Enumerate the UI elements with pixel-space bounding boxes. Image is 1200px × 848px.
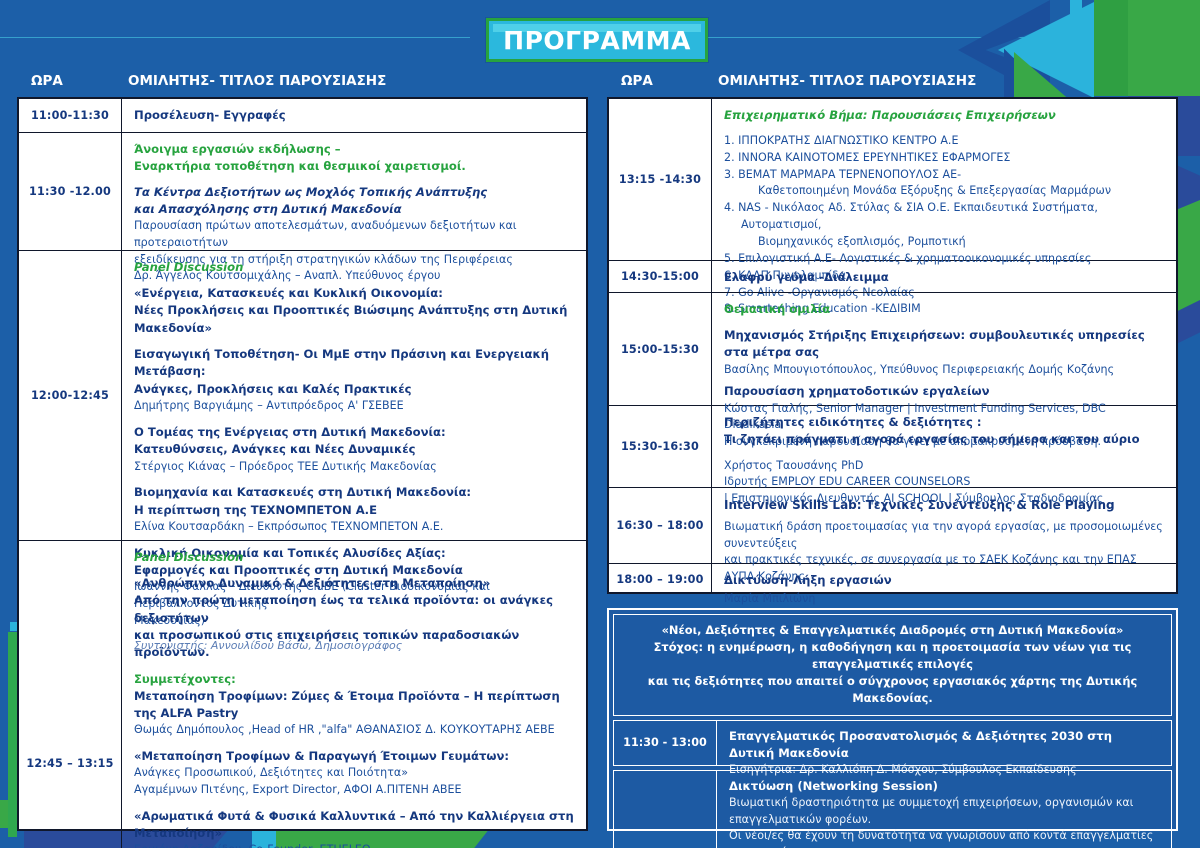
table-row: 14:30-15:00 Ελαφρύ γεύμα -Διάλειμμα <box>609 261 1176 293</box>
list-item: ΒΕΜΑΤ ΜΑΡΜΑΡΑ ΤΕΡΝΕΝΟΠΟΥΛΟΣ ΑΕ-Καθετοποι… <box>724 167 1166 201</box>
youth-banner-line-1: «Νέοι, Δεξιότητες & Επαγγελματικές Διαδρ… <box>624 622 1161 639</box>
row-content: Προσέλευση- Εγγραφές <box>122 99 586 132</box>
section-label: Θεματική ομιλία <box>724 301 1166 318</box>
row-time: 16:30 – 18:00 <box>609 488 712 563</box>
corner-arrow-cyan <box>998 2 1094 98</box>
table-row: 12:45 – 13:15 Panel Discussion «Ανθρώπιν… <box>19 541 586 848</box>
list-item-cont: Καθετοποιημένη Μονάδα Εξόρυξης & Επεξεργ… <box>741 183 1166 200</box>
speaker-name: Βασίλης Μπουγιοτόπουλος, Υπεύθυνος Περιφ… <box>724 362 1166 379</box>
row-time: 12:00-12:45 <box>19 251 122 540</box>
talk-title-2: Ο Τομέας της Ενέργειας στη Δυτική Μακεδο… <box>134 424 576 441</box>
session-desc-1: Παρουσίαση πρώτων αποτελεσμάτων, αναδυόμ… <box>134 218 576 251</box>
participant-title-2b: Ανάγκες Προσωπικού, Δεξιότητες και Ποιότ… <box>134 765 576 782</box>
talk-title-1b: Ανάγκες, Προκλήσεις και Καλές Πρακτικές <box>134 381 576 398</box>
session-title: Δικτύωση (Networking Session) <box>729 778 1161 795</box>
panel-title-2: Από την πρώτη μεταποίηση έως τα τελικά π… <box>134 592 576 627</box>
row-time: 11:30 -12.00 <box>19 133 122 250</box>
participant-speaker-1: Θωμάς Δημόπουλος ,Head of HR ,"alfa" ΑΘΑ… <box>134 722 576 739</box>
session-title-line-2: και Απασχόλησης στη Δυτική Μακεδονία <box>134 201 576 218</box>
talk-title-3: Βιομηχανία και Κατασκευές στη Δυτική Μακ… <box>134 484 576 501</box>
list-item: NAS - Νικόλαος Αδ. Στύλας & ΣΙΑ Ο.Ε. Εκπ… <box>724 200 1166 251</box>
row-time: 13:15 -14:30 <box>609 99 712 260</box>
session-title: Προσέλευση- Εγγραφές <box>134 107 576 124</box>
row-content: Interview Skills Lab: Τεχνικές Συνέντευξ… <box>712 488 1176 563</box>
row-time: 11:00-11:30 <box>19 99 122 132</box>
footer-shape-green <box>0 800 16 828</box>
panel-title-2: Νέες Προκλήσεις και Προοπτικές Βιώσιμης … <box>134 302 576 337</box>
row-time: 13:00 - 14:00 <box>614 771 717 848</box>
page-title-label: ΠΡΟΓΡΑΜΜΑ <box>503 26 691 55</box>
panel-label: Panel Discussion <box>134 549 576 566</box>
talk-title-1: Μηχανισμός Στήριξης Επιχειρήσεων: συμβου… <box>724 327 1166 362</box>
list-item-cont: Βιομηχανικός εξοπλισμός, Ρομποτική <box>741 234 1166 251</box>
panel-label: Panel Discussion <box>134 259 576 276</box>
row-time: 15:30-16:30 <box>609 406 712 487</box>
row-content: Panel Discussion «Ενέργεια, Κατασκευές κ… <box>122 251 586 540</box>
talk-title-2: Παρουσίαση χρηματοδοτικών εργαλείων <box>724 383 1166 400</box>
row-time: 18:00 – 19:00 <box>609 564 712 594</box>
panel-title-3: και προσωπικού στις επιχειρήσεις τοπικών… <box>134 627 576 662</box>
session-title-line-1: Τα Κέντρα Δεξιοτήτων ως Μοχλός Τοπικής Α… <box>134 184 576 201</box>
participant-speaker-2: Αγαμέμνων Πιτένης, Export Director, ΑΦΟΙ… <box>134 782 576 799</box>
left-accent-stripe <box>8 632 17 837</box>
table-row: 15:00-15:30 Θεματική ομιλία Μηχανισμός Σ… <box>609 293 1176 406</box>
header-desc-label: ΟΜΙΛΗΤΗΣ- ΤΙΤΛΟΣ ΠΑΡΟΥΣΙΑΣΗΣ <box>710 73 976 89</box>
column-header-left: ΩΡΑ ΟΜΙΛΗΤΗΣ- ΤΙΤΛΟΣ ΠΑΡΟΥΣΙΑΣΗΣ <box>17 70 386 92</box>
schedule-table-right: 13:15 -14:30 Επιχειρηματικό Βήμα: Παρουσ… <box>607 97 1178 594</box>
table-row: 13:15 -14:30 Επιχειρηματικό Βήμα: Παρουσ… <box>609 99 1176 261</box>
section-label: Επιχειρηματικό Βήμα: Παρουσιάσεις Επιχει… <box>724 107 1166 124</box>
page-title: ΠΡΟΓΡΑΜΜΑ <box>486 18 708 62</box>
opening-line-1: Άνοιγμα εργασιών εκδήλωσης – <box>134 141 576 158</box>
talk-title-1: Εισαγωγική Τοποθέτηση- Οι ΜμΕ στην Πράσι… <box>134 346 576 381</box>
table-row: 18:00 – 19:00 Δικτύωση-Λήξη εργασιών <box>609 564 1176 594</box>
table-row: 11:30 -12.00 Άνοιγμα εργασιών εκδήλωσης … <box>19 133 586 251</box>
table-row: 15:30-16:30 Περιζήτητες ειδικότητες & δε… <box>609 406 1176 488</box>
header-time-label: ΩΡΑ <box>17 73 120 89</box>
talk-title-2b: Κατευθύνσεις, Ανάγκες και Νέες Δυναμικές <box>134 441 576 458</box>
corner-shape-green <box>1128 0 1200 96</box>
speaker-name: Χρήστος Ταουσάνης PhD <box>724 458 1166 475</box>
list-item: ΙΠΠΟΚΡΑΤΗΣ ΔΙΑΓΝΩΣΤΙΚΟ ΚΕΝΤΡΟ Α.Ε <box>724 133 1166 150</box>
youth-banner-line-2: Στόχος: η ενημέρωση, η καθοδήγηση και η … <box>624 639 1161 673</box>
speaker-name: Δημήτρης Βαργιάμης – Αντιπρόεδρος Α' ΓΣΕ… <box>134 398 576 415</box>
session-desc-2: Οι νέοι/ες θα έχουν τη δυνατότητα να γνω… <box>729 828 1161 848</box>
speaker-name: Στέργιος Κιάνας – Πρόεδρος ΤΕΕ Δυτικής Μ… <box>134 459 576 476</box>
youth-program-panel: «Νέοι, Δεξιότητες & Επαγγελματικές Διαδρ… <box>607 608 1178 831</box>
table-row: 11:00-11:30 Προσέλευση- Εγγραφές <box>19 99 586 133</box>
table-row: 12:00-12:45 Panel Discussion «Ενέργεια, … <box>19 251 586 541</box>
talk-title-2: Τι ζητάει πράγματι η αγορά εργασίας του … <box>724 431 1166 448</box>
list-item: INNORA ΚΑΙΝΟΤΟΜΕΣ ΕΡΕΥΝΗΤΙΚΕΣ ΕΦΑΡΜΟΓΕΣ <box>724 150 1166 167</box>
youth-row: 11:30 - 13:00 Επαγγελματικός Προσανατολι… <box>613 720 1172 766</box>
header-desc-label: ΟΜΙΛΗΤΗΣ- ΤΙΤΛΟΣ ΠΑΡΟΥΣΙΑΣΗΣ <box>120 73 386 89</box>
row-content: Περιζήτητες ειδικότητες & δεξιότητες : Τ… <box>712 406 1176 487</box>
panel-title-1: «Ενέργεια, Κατασκευές και Κυκλική Οικονο… <box>134 285 576 302</box>
participant-speaker-3: Ερμιόνη Λαζαρίδου, Co-Founder, ETHELEO <box>134 842 576 848</box>
participant-title-2: «Μεταποίηση Τροφίμων & Παραγωγή Έτοιμων … <box>134 748 576 765</box>
row-content: Άνοιγμα εργασιών εκδήλωσης – Εναρκτήρια … <box>122 133 586 250</box>
schedule-table-left: 11:00-11:30 Προσέλευση- Εγγραφές 11:30 -… <box>17 97 588 831</box>
corner-shape-cyan-thin <box>1070 0 1082 56</box>
row-time: 15:00-15:30 <box>609 293 712 405</box>
corner-shape-blue-bar <box>1076 0 1094 96</box>
opening-line-2: Εναρκτήρια τοποθέτηση και θεσμικοί χαιρε… <box>134 158 576 175</box>
youth-banner: «Νέοι, Δεξιότητες & Επαγγελματικές Διαδρ… <box>613 614 1172 716</box>
youth-banner-line-3: και τις δεξιότητες που απαιτεί ο σύγχρον… <box>624 673 1161 707</box>
corner-triangle-green <box>1014 52 1072 102</box>
header-hairline-right <box>640 37 1200 38</box>
row-content: Δικτύωση (Networking Session) Βιωματική … <box>717 771 1171 848</box>
row-content: Θεματική ομιλία Μηχανισμός Στήριξης Επιχ… <box>712 293 1176 405</box>
row-content: Ελαφρύ γεύμα -Διάλειμμα <box>712 261 1176 292</box>
corner-triangle-navy <box>1004 40 1074 102</box>
panel-title-1: «Ανθρώπινο Δυναμικό & Δεξιότητες στη Μετ… <box>134 575 576 592</box>
row-time: 14:30-15:00 <box>609 261 712 292</box>
header-hairline-left <box>0 37 470 38</box>
participant-title-3: «Αρωματικά Φυτά & Φυσικά Καλλυντικά – Απ… <box>134 808 576 843</box>
row-time: 11:30 - 13:00 <box>614 721 717 765</box>
row-content: Panel Discussion «Ανθρώπινο Δυναμικό & Δ… <box>122 541 586 848</box>
row-content: Επαγγελματικός Προσανατολισμός & Δεξιότη… <box>717 721 1171 765</box>
session-title: Interview Skills Lab: Τεχνικές Συνέντευξ… <box>724 496 1166 514</box>
corner-shape-green-2 <box>1094 0 1128 96</box>
session-desc-1: Βιωματική δραστηριότητα με συμμετοχή επι… <box>729 795 1161 828</box>
talk-title-3b: Η περίπτωση της ΤΕΧΝΟΜΠΕΤΟΝ Α.Ε <box>134 502 576 519</box>
column-header-right: ΩΡΑ ΟΜΙΛΗΤΗΣ- ΤΙΤΛΟΣ ΠΑΡΟΥΣΙΑΣΗΣ <box>607 70 976 92</box>
participant-title-1: Μεταποίηση Τροφίμων: Ζύμες & Έτοιμα Προϊ… <box>134 688 576 723</box>
table-row: 16:30 – 18:00 Interview Skills Lab: Τεχν… <box>609 488 1176 564</box>
row-content: Επιχειρηματικό Βήμα: Παρουσιάσεις Επιχει… <box>712 99 1176 260</box>
participants-label: Συμμετέχοντες: <box>134 671 576 688</box>
session-title: Ελαφρύ γεύμα -Διάλειμμα <box>724 269 1166 286</box>
session-title: Δικτύωση-Λήξη εργασιών <box>724 572 1166 589</box>
row-content: Δικτύωση-Λήξη εργασιών <box>712 564 1176 594</box>
speaker-name: Ελίνα Κουτσαρδάκη – Εκπρόσωπος ΤΕΧΝΟΜΠΕΤ… <box>134 519 576 536</box>
session-title: Επαγγελματικός Προσανατολισμός & Δεξιότη… <box>729 728 1161 763</box>
session-desc-1: Βιωματική δράση προετοιμασίας για την αγ… <box>724 519 1166 552</box>
talk-title-1: Περιζήτητες ειδικότητες & δεξιότητες : <box>724 414 1166 431</box>
youth-row: 13:00 - 14:00 Δικτύωση (Networking Sessi… <box>613 770 1172 848</box>
row-time: 12:45 – 13:15 <box>19 541 122 848</box>
header-time-label: ΩΡΑ <box>607 73 710 89</box>
